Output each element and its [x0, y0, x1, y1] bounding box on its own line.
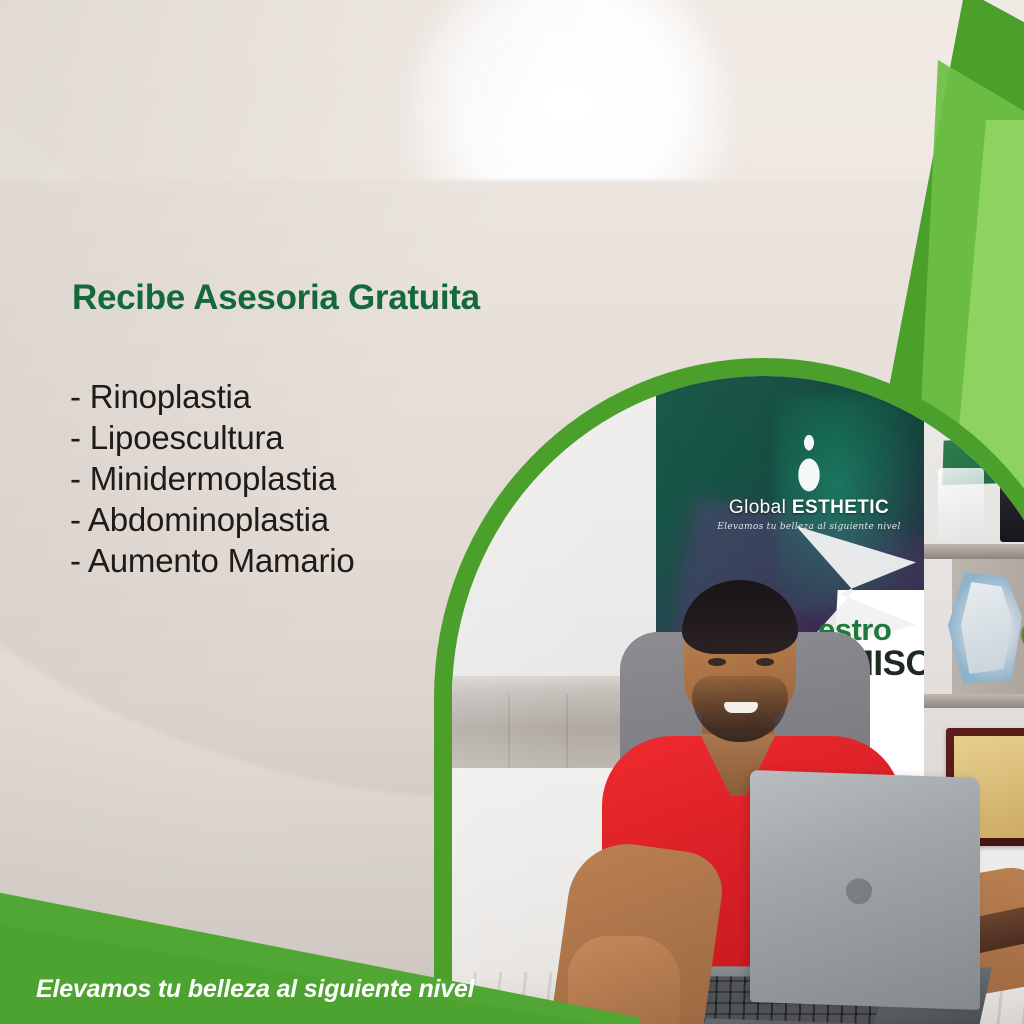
- doctor-photo: Global ESTHETIC Elevamos tu belleza al s…: [452, 376, 1024, 1024]
- list-item: - Abdominoplastia: [70, 499, 355, 540]
- tagline-part-two: al siguiente nivel: [277, 975, 475, 1003]
- photo-highlight-overlay: [452, 376, 1024, 1024]
- list-item: - Rinoplastia: [70, 376, 355, 417]
- list-item: - Aumento Mamario: [70, 540, 355, 581]
- list-item: - Minidermoplastia: [70, 458, 355, 499]
- tagline-part-one: Elevamos tu belleza: [36, 975, 270, 1003]
- list-item: - Lipoescultura: [70, 417, 355, 458]
- services-list: - Rinoplastia - Lipoescultura - Miniderm…: [70, 376, 355, 581]
- promotional-poster: Global ESTHETIC Elevamos tu belleza al s…: [0, 0, 1024, 1024]
- page-title: Recibe Asesoria Gratuita: [72, 278, 480, 318]
- brand-tagline: Elevamos tu belleza al siguiente nivel: [36, 975, 474, 1004]
